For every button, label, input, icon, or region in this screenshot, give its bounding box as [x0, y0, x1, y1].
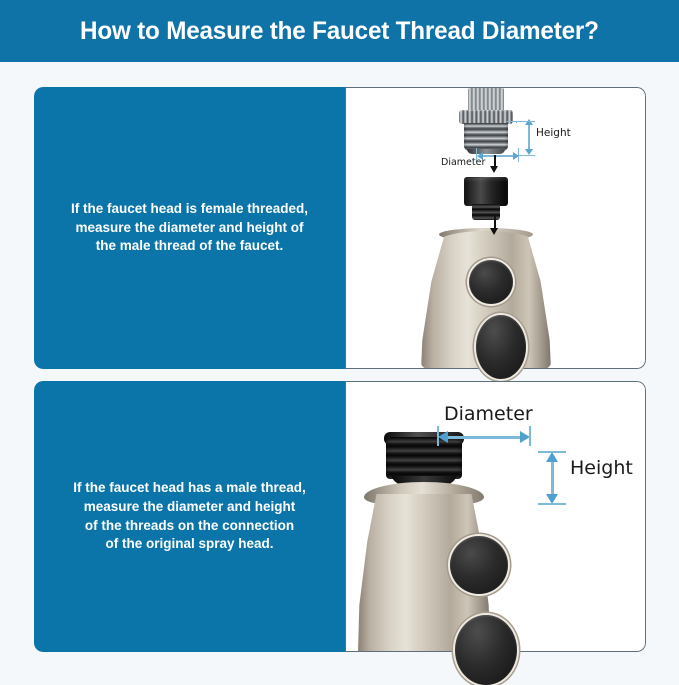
- card-1-line-2: measure the diameter and height of: [75, 220, 303, 235]
- spray-head-button-round-1: [469, 260, 513, 304]
- aerator-male-thread: [464, 123, 508, 151]
- diameter-arrow-shaft-2: [448, 436, 522, 439]
- aerator-knurled-collar: [459, 110, 513, 124]
- aerator-knurled-top: [468, 88, 504, 112]
- diameter-label-1: Diameter: [441, 157, 485, 168]
- diameter-extension-left-2: [437, 426, 439, 446]
- card-male-thread: If the faucet head has a male thread, me…: [34, 381, 646, 652]
- card-2-text-panel: If the faucet head has a male thread, me…: [34, 381, 345, 652]
- card-1-text-panel: If the faucet head is female threaded, m…: [34, 87, 345, 369]
- height-arrow-shaft-1: [528, 124, 530, 150]
- assembly-arrow-head-top: [490, 166, 498, 173]
- diameter-arrow-head-left-2: [438, 431, 448, 443]
- card-1-description: If the faucet head is female threaded, m…: [57, 200, 322, 256]
- card-2-line-2: measure the diameter and height: [84, 499, 296, 514]
- card-1-line-1: If the faucet head is female threaded,: [71, 201, 308, 216]
- height-extension-top-1: [507, 121, 535, 122]
- male-thread-body: [386, 437, 462, 479]
- card-2-line-3: of the threads on the connection: [85, 518, 294, 533]
- height-arrow-head-up-2: [546, 452, 558, 462]
- spray-head-button-oval-2: [455, 615, 517, 685]
- diameter-extension-right-2: [529, 426, 531, 446]
- diameter-extension-right-1: [518, 148, 519, 162]
- card-1-line-3: the male thread of the faucet.: [96, 238, 284, 253]
- page-title: How to Measure the Faucet Thread Diamete…: [80, 17, 599, 46]
- infographic-page: How to Measure the Faucet Thread Diamete…: [0, 0, 679, 679]
- height-label-1: Height: [536, 127, 571, 139]
- height-extension-bottom-2: [538, 503, 566, 505]
- assembly-arrow-head-bottom: [490, 228, 498, 235]
- adapter-body: [464, 178, 508, 206]
- height-extension-top-2: [538, 451, 566, 453]
- diameter-label-2: Diameter: [444, 403, 533, 425]
- card-2-line-4: of the original spray head.: [105, 536, 273, 551]
- diameter-arrow-shaft-1: [482, 155, 515, 157]
- height-arrow-shaft-2: [551, 460, 554, 497]
- spray-head-button-oval-1: [476, 315, 526, 379]
- card-2-description: If the faucet head has a male thread, me…: [59, 479, 320, 554]
- header-banner: How to Measure the Faucet Thread Diamete…: [0, 0, 679, 62]
- spray-head-button-round-2: [450, 536, 508, 594]
- aerator-thread-tip: [467, 149, 505, 154]
- card-2-line-1: If the faucet head has a male thread,: [73, 480, 306, 495]
- height-label-2: Height: [570, 457, 633, 479]
